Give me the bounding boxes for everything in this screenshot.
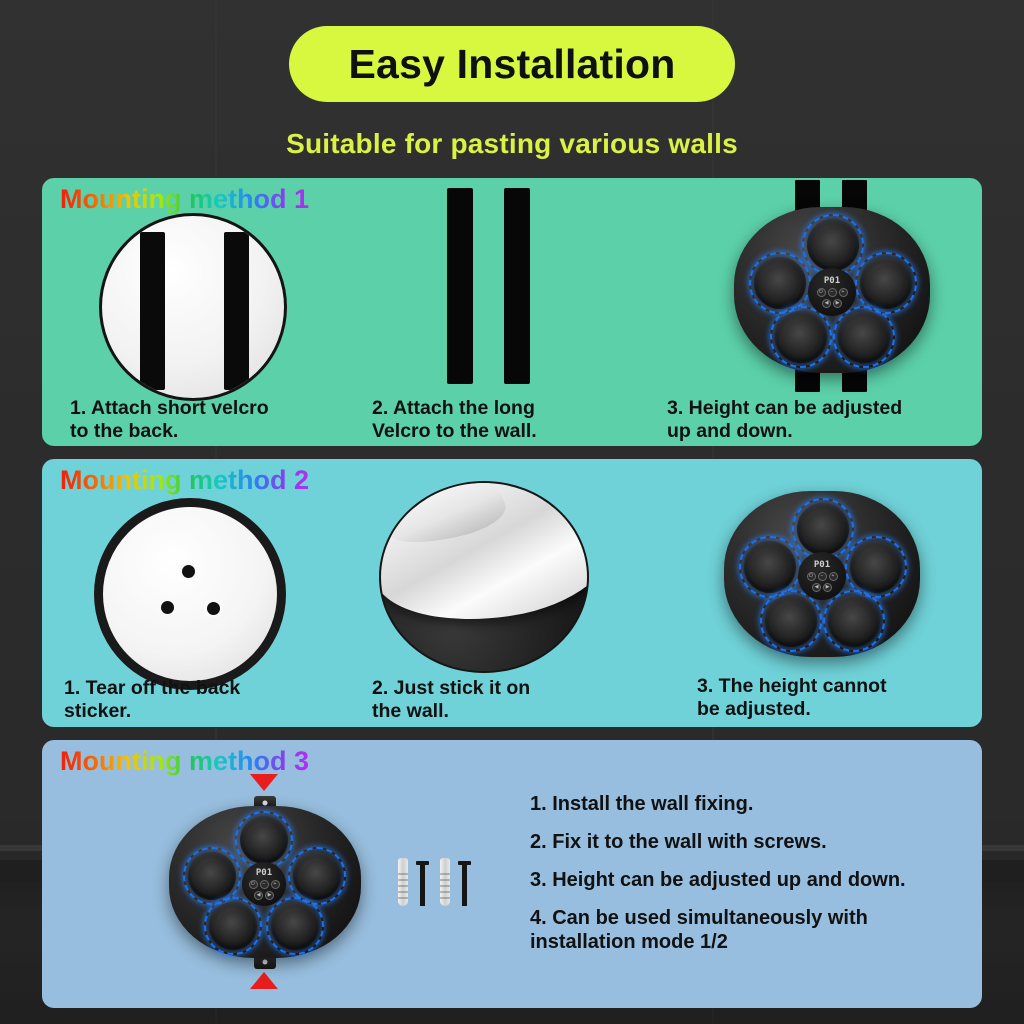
image-long-velcro-strips [435, 188, 565, 388]
next-button[interactable]: ▶ [833, 299, 842, 308]
power-button[interactable]: ⏻ [807, 572, 816, 581]
led-ring-bottom-right [833, 306, 895, 368]
instruction-item-3: 3. Height can be adjusted up and down. [530, 868, 970, 892]
minus-button[interactable]: − [828, 288, 837, 297]
led-ring-left [739, 536, 801, 598]
power-button[interactable]: ⏻ [249, 880, 258, 889]
long-velcro-strip [504, 188, 530, 384]
panel-2-step-3-caption: 3. The height cannot be adjusted. [697, 675, 982, 721]
control-button-row-bottom: ◀ ▶ [822, 299, 842, 308]
panel-1-step-3-caption: 3. Height can be adjusted up and down. [667, 397, 977, 443]
led-ring-top [792, 498, 854, 560]
power-button[interactable]: ⏻ [817, 288, 826, 297]
led-ring-top [235, 811, 293, 869]
mount-hole [207, 602, 220, 615]
panel-2-step-1-caption: 1. Tear off the back sticker. [64, 677, 364, 723]
screw-head [416, 861, 429, 865]
mount-hole [182, 565, 195, 578]
adhesive-disc [94, 498, 286, 690]
panel-mounting-method-1: Mounting method 1 1. Attach short velcro… [42, 178, 982, 446]
page-subtitle: Suitable for pasting various walls [0, 128, 1024, 160]
led-ring-bottom-left [760, 590, 822, 652]
led-ring-bottom-left [204, 897, 262, 955]
control-panel[interactable]: P01 ⏻ − + ◀ ▶ [808, 268, 856, 316]
page-title-pill: Easy Installation [289, 26, 735, 102]
bracket-hole [263, 960, 268, 965]
control-button-row-bottom: ◀ ▶ [254, 891, 274, 900]
device-display: P01 [824, 277, 840, 286]
led-ring-bottom-right [266, 897, 324, 955]
control-button-row-top: ⏻ − + [817, 288, 848, 297]
wall-anchor [398, 858, 408, 906]
instruction-item-4: 4. Can be used simultaneously with insta… [530, 906, 970, 954]
minus-button[interactable]: − [818, 572, 827, 581]
control-panel[interactable]: P01 ⏻ − + ◀ ▶ [242, 862, 286, 906]
control-button-row-top: ⏻ − + [807, 572, 838, 581]
arrow-up-icon [250, 972, 278, 989]
prev-button[interactable]: ◀ [254, 891, 263, 900]
panel-2-step-2-caption: 2. Just stick it on the wall. [372, 677, 662, 723]
bracket-hole [263, 801, 268, 806]
screw-head [458, 861, 471, 865]
long-velcro-strip [447, 188, 473, 384]
mount-hole [161, 601, 174, 614]
plus-button[interactable]: + [271, 880, 280, 889]
image-anchors-and-screws [398, 858, 508, 918]
panel-1-step-2-caption: 2. Attach the long Velcro to the wall. [372, 397, 662, 443]
image-device-wall-mounted: P01 ⏻ − + ◀ ▶ [694, 487, 944, 677]
wall-anchor [440, 858, 450, 906]
instruction-item-2: 2. Fix it to the wall with screws. [530, 830, 970, 854]
device-display: P01 [814, 561, 830, 570]
arrow-down-icon [250, 774, 278, 791]
panel-3-instruction-list: 1. Install the wall fixing. 2. Fix it to… [530, 792, 970, 968]
image-adhesive-back-with-holes [94, 498, 286, 690]
panel-3-heading: Mounting method 3 [60, 746, 309, 777]
panel-1-heading: Mounting method 1 [60, 184, 309, 215]
short-velcro-strip [224, 232, 249, 390]
prev-button[interactable]: ◀ [822, 299, 831, 308]
device-back-disc [99, 213, 287, 401]
next-button[interactable]: ▶ [265, 891, 274, 900]
led-ring-bottom-right [823, 590, 885, 652]
next-button[interactable]: ▶ [823, 583, 832, 592]
control-panel[interactable]: P01 ⏻ − + ◀ ▶ [798, 552, 846, 600]
minus-button[interactable]: − [260, 880, 269, 889]
plus-button[interactable]: + [839, 288, 848, 297]
screw [420, 861, 425, 906]
screw [462, 861, 467, 906]
control-button-row-top: ⏻ − + [249, 880, 280, 889]
panel-2-heading: Mounting method 2 [60, 465, 309, 496]
panel-mounting-method-2: Mounting method 2 1. Tear off the back s… [42, 459, 982, 727]
prev-button[interactable]: ◀ [812, 583, 821, 592]
image-device-with-brackets: P01 ⏻ − + ◀ ▶ [162, 774, 392, 994]
instruction-item-1: 1. Install the wall fixing. [530, 792, 970, 816]
led-ring-right [845, 536, 907, 598]
page-title: Easy Installation [349, 41, 676, 88]
led-ring-bottom-left [770, 306, 832, 368]
panel-1-step-1-caption: 1. Attach short velcro to the back. [70, 397, 370, 443]
music-boxing-machine[interactable]: P01 ⏻ − + ◀ ▶ [169, 806, 361, 958]
device-display: P01 [256, 869, 272, 878]
led-ring-left [749, 252, 811, 314]
image-white-disc-short-velcro [99, 213, 287, 401]
led-ring-top [802, 214, 864, 276]
plus-button[interactable]: + [829, 572, 838, 581]
led-ring-right [855, 252, 917, 314]
image-device-on-velcro-straps: P01 ⏻ − + ◀ ▶ [682, 180, 952, 392]
music-boxing-machine[interactable]: P01 ⏻ − + ◀ ▶ [734, 207, 930, 373]
image-peeling-backing-film [379, 481, 601, 681]
adhesive-disc-peeling [379, 481, 589, 673]
music-boxing-machine[interactable]: P01 ⏻ − + ◀ ▶ [724, 491, 920, 657]
control-button-row-bottom: ◀ ▶ [812, 583, 832, 592]
short-velcro-strip [140, 232, 165, 390]
